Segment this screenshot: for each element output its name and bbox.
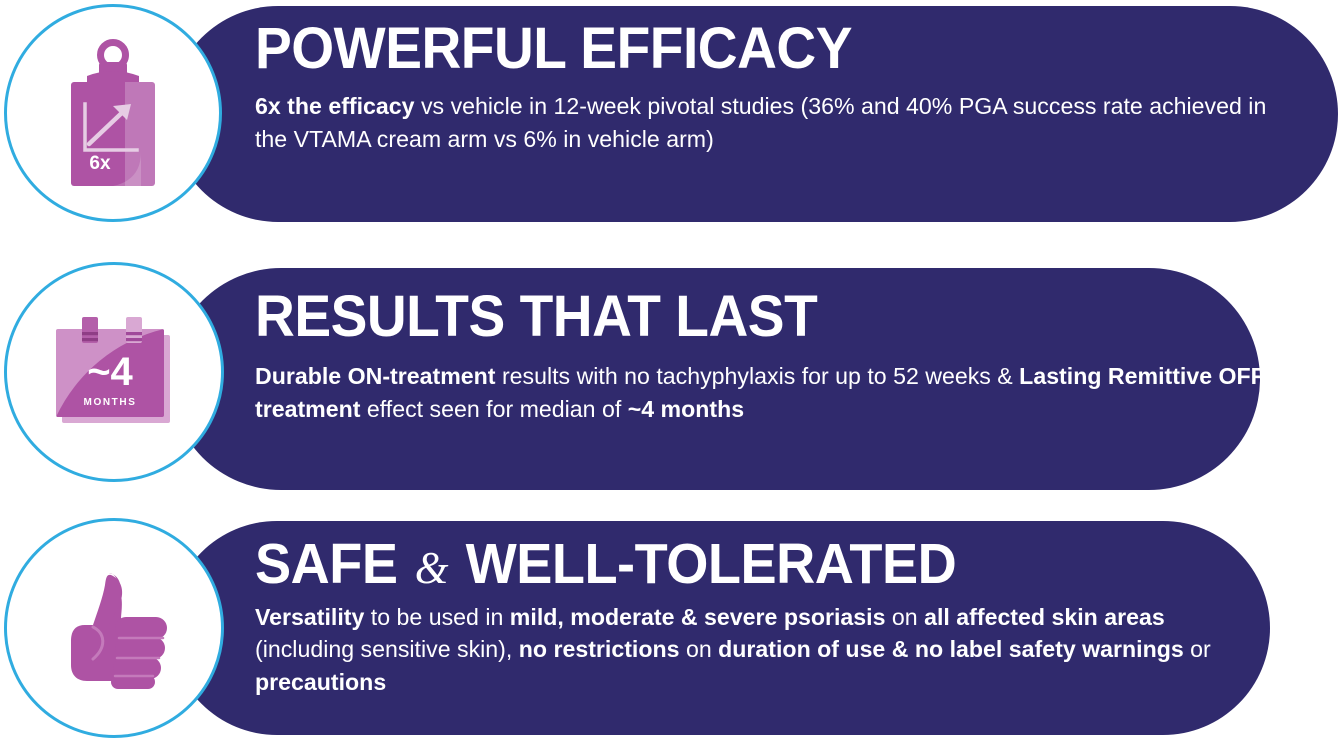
benefit-heading-2: RESULTS THAT LAST [255, 288, 1243, 346]
benefit-body-3-bold-3: all affected skin areas [924, 604, 1165, 630]
benefit-body-3-bold-4: no restrictions [519, 636, 680, 662]
benefit-heading-1: POWERFUL EFFICACY [255, 20, 1243, 78]
benefit-body-2-bold-3: ~4 months [628, 396, 744, 422]
benefit-body-1-bold-1: 6x the efficacy [255, 93, 415, 119]
benefit-body-2-bold-1: Durable ON-treatment [255, 363, 496, 389]
benefit-text-block-2: RESULTS THAT LAST Durable ON-treatment r… [255, 288, 1295, 427]
benefit-text-block-1: POWERFUL EFFICACY 6x the efficacy vs veh… [255, 20, 1295, 157]
benefit-body-1: 6x the efficacy vs vehicle in 12-week pi… [255, 90, 1279, 157]
benefit-body-3-bold-5: duration of use & no label safety warnin… [718, 636, 1184, 662]
benefit-body-3-text-3: (including sensitive skin), [255, 636, 519, 662]
benefit-body-3-bold-2: mild, moderate & severe psoriasis [510, 604, 886, 630]
thumbs-up-icon [7, 521, 221, 735]
benefit-heading-3: SAFE & WELL-TOLERATED [255, 536, 1205, 593]
benefit-body-3-text-2: on [885, 604, 924, 630]
benefit-body-3-bold-1: Versatility [255, 604, 364, 630]
benefit-body-3-text-5: or [1184, 636, 1211, 662]
benefits-infographic: POWERFUL EFFICACY 6x the efficacy vs veh… [0, 0, 1344, 745]
calendar-icon: ~4 MONTHS [7, 265, 221, 479]
benefit-heading-3-part-2: WELL-TOLERATED [466, 532, 957, 596]
benefit-badge-2: ~4 MONTHS [4, 262, 224, 482]
clipboard-chart-icon: 6x [7, 7, 219, 219]
benefit-body-3-text-4: on [680, 636, 719, 662]
svg-text:MONTHS: MONTHS [84, 397, 137, 408]
benefit-body-3-text-1: to be used in [364, 604, 509, 630]
benefit-badge-1: 6x [4, 4, 222, 222]
svg-text:6x: 6x [89, 153, 111, 174]
benefit-body-2: Durable ON-treatment results with no tac… [255, 360, 1279, 427]
ampersand-glyph: & [412, 542, 451, 593]
benefit-body-2-text-1: results with no tachyphylaxis for up to … [496, 363, 1020, 389]
benefit-body-3-bold-6: precautions [255, 669, 386, 695]
svg-text:~4: ~4 [87, 350, 133, 394]
benefit-body-2-text-2: effect seen for median of [360, 396, 627, 422]
benefit-heading-3-part-1: SAFE [255, 532, 398, 596]
benefit-badge-3 [4, 518, 224, 738]
benefit-text-block-3: SAFE & WELL-TOLERATED Versatility to be … [255, 536, 1255, 698]
benefit-body-3: Versatility to be used in mild, moderate… [255, 601, 1240, 698]
